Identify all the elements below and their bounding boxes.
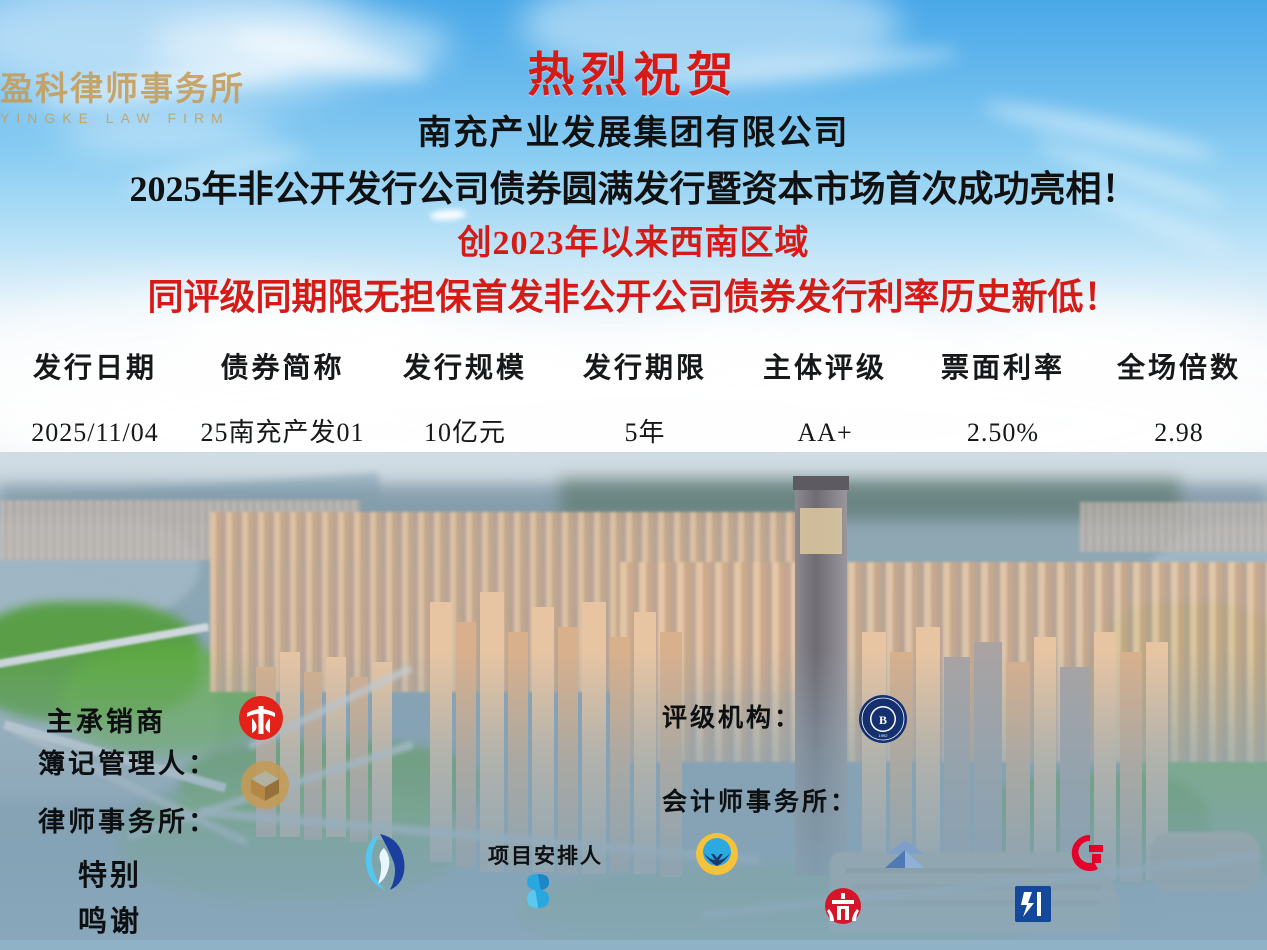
td-bond-short-name: 25南充产发01 (190, 411, 375, 455)
chongqing-three-gorges-bank-icon (880, 838, 930, 874)
cityscape-photo (0, 452, 1267, 950)
td-issue-size: 10亿元 (375, 411, 555, 455)
huaxia-bank-icon (1070, 833, 1110, 873)
td-issue-date: 2025/11/04 (0, 411, 190, 455)
td-issue-term: 5年 (555, 411, 735, 455)
th-issue-date: 发行日期 (0, 345, 190, 393)
scb-icon (523, 872, 553, 910)
bank-of-tianjin-icon (1015, 886, 1051, 922)
szse-icon (360, 832, 410, 892)
gw-bank-icon (695, 832, 739, 876)
headline-line-1: 2025年非公开发行公司债券圆满发行暨资本市场首次成功亮相！ (0, 160, 1267, 212)
underwriter-label-line-2: 簿记管理人： (38, 742, 218, 781)
law-firm-label: 律师事务所： (38, 800, 218, 839)
special-thanks-line-2: 鸣谢 (78, 898, 142, 940)
td-coupon-rate: 2.50% (915, 411, 1091, 455)
accounting-firm-label: 会计师事务所： (662, 782, 858, 818)
luzhou-bank-icon (824, 887, 862, 925)
th-issuer-rating: 主体评级 (735, 345, 915, 393)
th-bond-short-name: 债券简称 (190, 345, 375, 393)
th-issue-term: 发行期限 (555, 345, 735, 393)
yuekai-securities-icon (238, 695, 284, 741)
yingke-law-firm-icon (240, 760, 290, 810)
svg-text:B: B (879, 713, 887, 727)
underwriter-label-line-1: 主承销商 (46, 700, 166, 739)
th-coupon-rate: 票面利率 (915, 345, 1091, 393)
yingke-law-firm-name-en: YINGKE LAW FIRM (0, 110, 1267, 126)
special-thanks-line-1: 特别 (78, 852, 142, 894)
headline-line-2: 创2023年以来西南区域 (0, 215, 1267, 264)
shanghai-brilliance-rating-icon: B 1992 (858, 694, 908, 744)
th-subscription-multiple: 全场倍数 (1091, 345, 1267, 393)
th-issue-size: 发行规模 (375, 345, 555, 393)
bottom-strip (0, 940, 1267, 950)
yingke-law-firm-name-cn: 盈科律师事务所 (0, 62, 1267, 110)
td-issuer-rating: AA+ (735, 411, 915, 455)
rating-agency-label: 评级机构： (662, 698, 802, 734)
bond-details-table: 发行日期 债券简称 发行规模 发行期限 主体评级 票面利率 全场倍数 2025/… (0, 345, 1267, 455)
project-arranger-label: 项目安排人 (488, 840, 603, 870)
poster-root: 热烈祝贺 南充产业发展集团有限公司 2025年非公开发行公司债券圆满发行暨资本市… (0, 0, 1267, 950)
svg-text:1992: 1992 (879, 733, 889, 738)
table-row: 2025/11/04 25南充产发01 10亿元 5年 AA+ 2.50% 2.… (0, 411, 1267, 455)
table-header-row: 发行日期 债券简称 发行规模 发行期限 主体评级 票面利率 全场倍数 (0, 345, 1267, 393)
headline-line-3: 同评级同期限无担保首发非公开公司债券发行利率历史新低！ (0, 268, 1267, 320)
td-subscription-multiple: 2.98 (1091, 411, 1267, 455)
